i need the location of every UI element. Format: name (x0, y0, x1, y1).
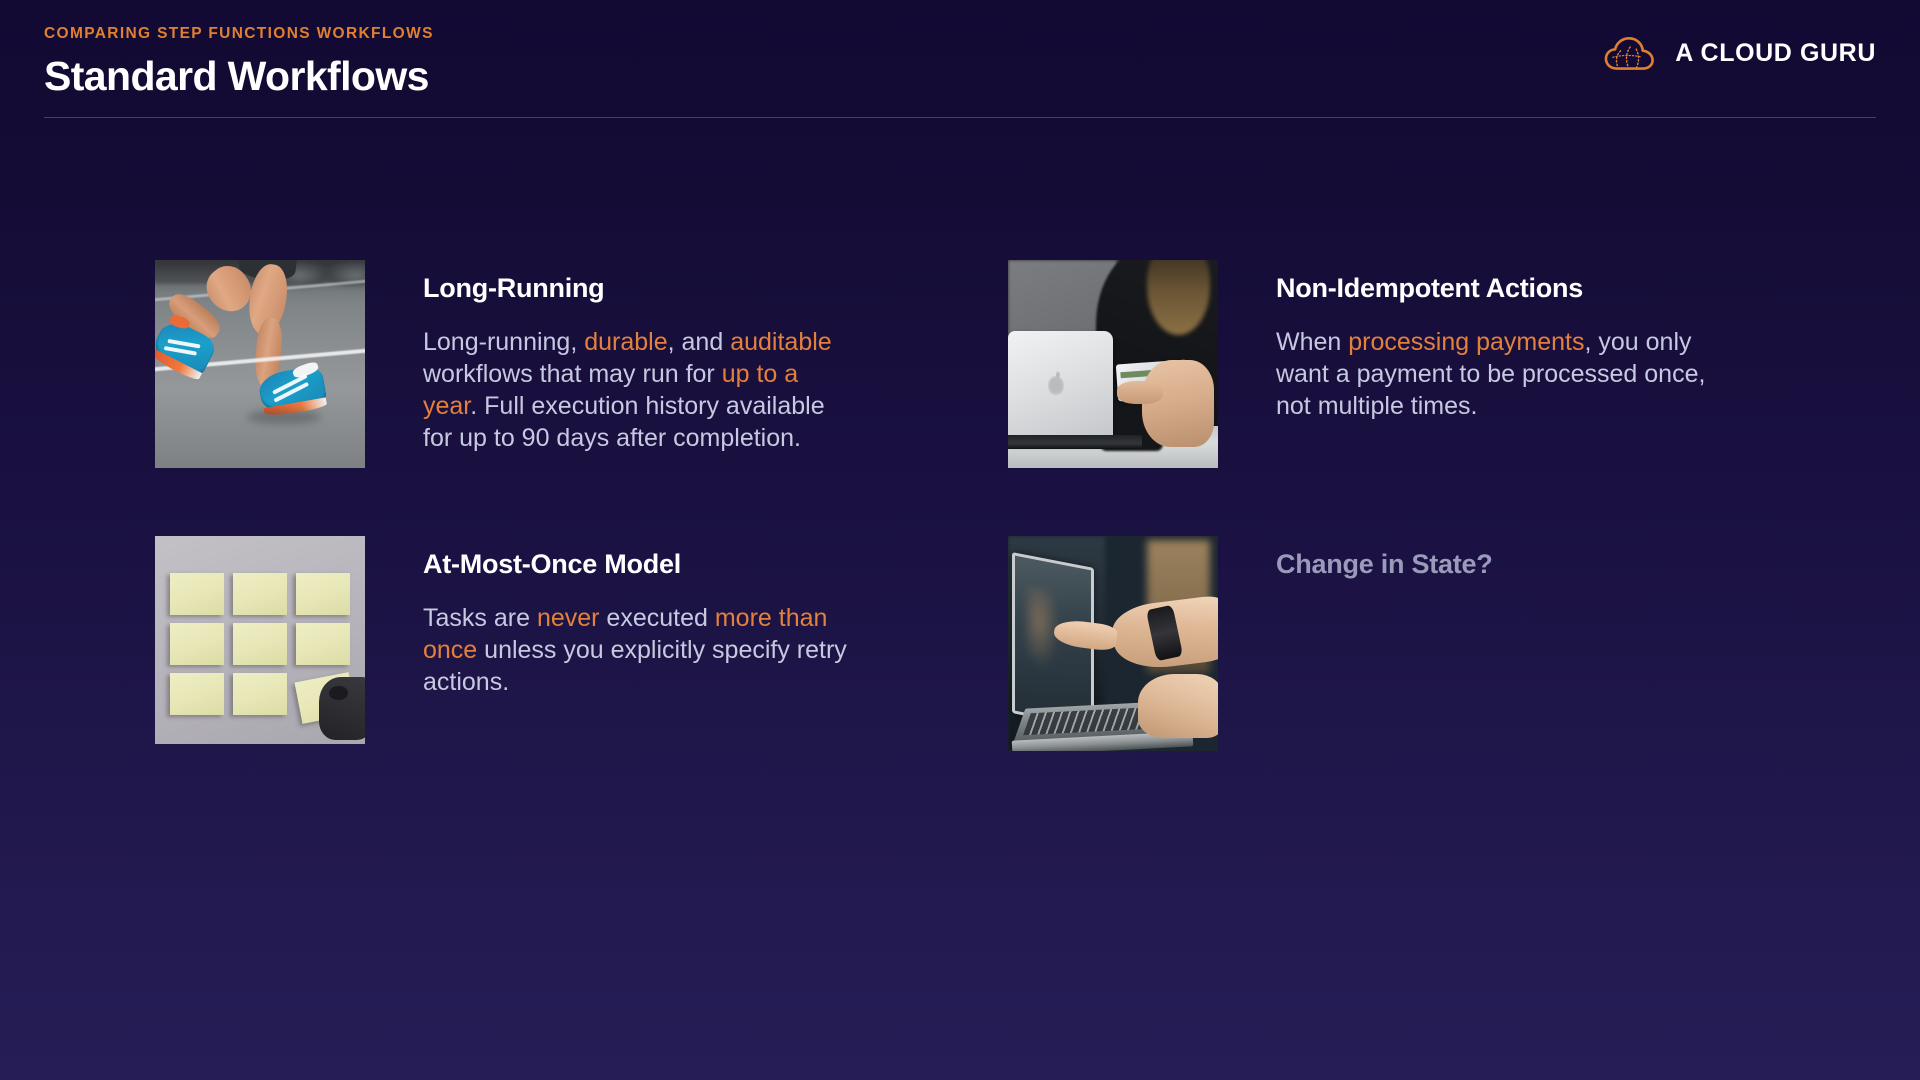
feature-card-at-most-once-model: At-Most-Once Model Tasks are never execu… (155, 536, 855, 751)
text-run: workflows that may run for (423, 360, 722, 388)
feature-card-long-running: Long-Running Long-running, durable, and … (155, 260, 855, 468)
cloud-icon (1603, 34, 1659, 72)
text-run: , and (668, 328, 731, 356)
highlight-run: durable (584, 328, 667, 356)
card-body: At-Most-Once Model Tasks are never execu… (423, 536, 855, 698)
text-run: unless you explicitly specify retry acti… (423, 636, 847, 696)
card-description: Tasks are never executed more than once … (423, 602, 855, 698)
card-title: Change in State? (1276, 550, 1708, 580)
card-title: Long-Running (423, 274, 855, 304)
highlight-run: processing payments (1348, 328, 1584, 356)
credit-card-laptop-photo (1008, 260, 1218, 468)
feature-card-change-in-state: Change in State? (1008, 536, 1708, 751)
card-body: Change in State? (1276, 536, 1708, 580)
card-body: Long-Running Long-running, durable, and … (423, 260, 855, 454)
text-run: . Full execution history available for u… (423, 392, 825, 452)
feature-card-grid: Long-Running Long-running, durable, and … (155, 260, 1775, 751)
pointing-at-laptop-photo (1008, 536, 1218, 751)
runner-on-road-photo (155, 260, 365, 468)
card-description: Long-running, durable, and auditable wor… (423, 326, 855, 454)
slide-header: COMPARING STEP FUNCTIONS WORKFLOWS Stand… (44, 20, 1876, 120)
sticky-notes-photo (155, 536, 365, 744)
text-run: Tasks are (423, 604, 537, 632)
text-run: executed (599, 604, 714, 632)
brand-name: A CLOUD GURU (1675, 39, 1876, 68)
brand-logo: A CLOUD GURU (1603, 34, 1876, 72)
card-title: Non-Idempotent Actions (1276, 274, 1708, 304)
card-description: When processing payments, you only want … (1276, 326, 1708, 422)
feature-card-non-idempotent-actions: Non-Idempotent Actions When processing p… (1008, 260, 1708, 468)
text-run: Long-running, (423, 328, 584, 356)
card-body: Non-Idempotent Actions When processing p… (1276, 260, 1708, 422)
text-run: When (1276, 328, 1348, 356)
header-divider (44, 117, 1876, 118)
slide-root: COMPARING STEP FUNCTIONS WORKFLOWS Stand… (0, 0, 1920, 1080)
card-title: At-Most-Once Model (423, 550, 855, 580)
page-title: Standard Workflows (44, 55, 1876, 98)
highlight-run: never (537, 604, 600, 632)
highlight-run: auditable (730, 328, 831, 356)
slide-eyebrow: COMPARING STEP FUNCTIONS WORKFLOWS (44, 26, 1876, 42)
